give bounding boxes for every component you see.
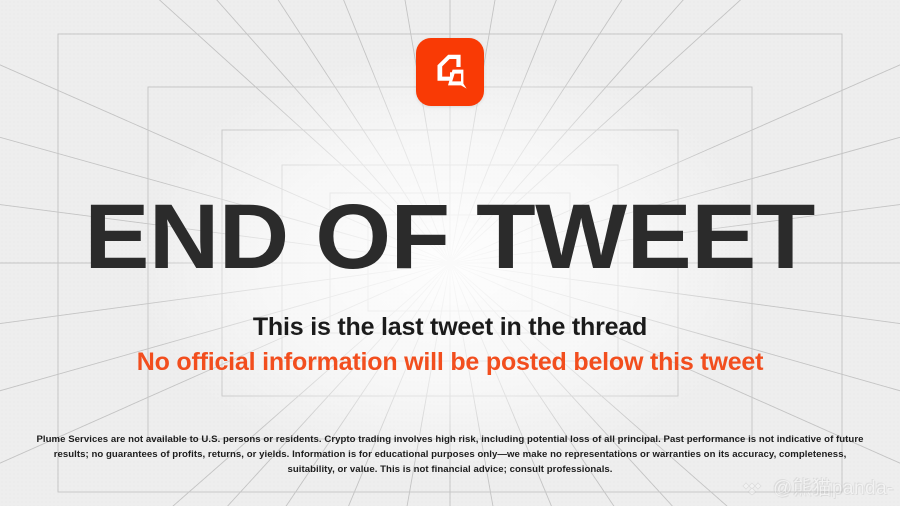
page-title: END OF TWEET	[85, 198, 815, 277]
slide-canvas: END OF TWEET This is the last tweet in t…	[0, 0, 900, 506]
slide-content: END OF TWEET This is the last tweet in t…	[0, 0, 900, 506]
subtitle-warning: No official information will be posted b…	[137, 348, 764, 377]
plume-feather-logo-icon	[430, 52, 470, 92]
legal-disclaimer: Plume Services are not available to U.S.…	[30, 432, 870, 478]
plume-logo-tile	[416, 38, 484, 106]
subtitle-primary: This is the last tweet in the thread	[253, 313, 647, 342]
